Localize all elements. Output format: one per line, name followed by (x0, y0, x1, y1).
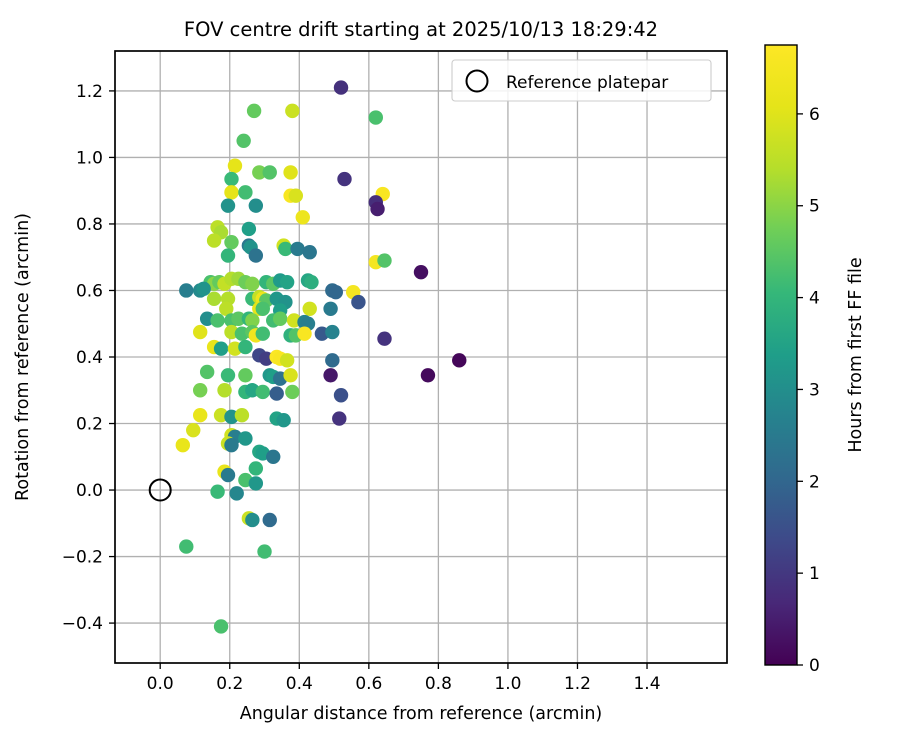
scatter-point (303, 302, 317, 316)
scatter-point (325, 325, 339, 339)
colorbar-tick-label: 4 (809, 289, 820, 309)
y-tick-label: 0.6 (76, 281, 103, 301)
scatter-point (238, 368, 252, 382)
scatter-point (214, 341, 228, 355)
scatter-point (193, 325, 207, 339)
colorbar-label: Hours from first FF file (846, 257, 866, 452)
scatter-point (303, 245, 317, 259)
scatter-point (245, 277, 259, 291)
scatter-point (224, 185, 238, 199)
scatter-point (210, 485, 224, 499)
scatter-point (217, 383, 231, 397)
colorbar-tick-label: 6 (809, 105, 820, 125)
scatter-point (176, 438, 190, 452)
scatter-point (323, 302, 337, 316)
scatter-point (221, 468, 235, 482)
scatter-point (377, 253, 391, 267)
scatter-point (332, 411, 346, 425)
scatter-point (289, 188, 303, 202)
scatter-point (266, 450, 280, 464)
y-tick-label: 0.0 (76, 481, 103, 501)
scatter-point (283, 368, 297, 382)
scatter-point (210, 313, 224, 327)
y-tick-label: −0.2 (62, 548, 103, 568)
x-tick-label: 0.8 (425, 674, 452, 694)
legend[interactable]: Reference platepar (452, 60, 711, 101)
scatter-point (334, 80, 348, 94)
x-tick-label: 1.4 (633, 674, 660, 694)
colorbar-gradient (765, 45, 797, 665)
x-tick-label: 1.0 (494, 674, 521, 694)
scatter-point (249, 198, 263, 212)
scatter-point (256, 385, 270, 399)
scatter-point (200, 365, 214, 379)
scatter-point (238, 340, 252, 354)
scatter-point (280, 275, 294, 289)
scatter-point (280, 353, 294, 367)
scatter-point (247, 104, 261, 118)
scatter-point (238, 185, 252, 199)
scatter-point (249, 248, 263, 262)
x-tick-label: 1.2 (564, 674, 591, 694)
matplotlib-figure: FOV centre drift starting at 2025/10/13 … (0, 0, 900, 750)
scatter-point (256, 327, 270, 341)
scatter-point (273, 312, 287, 326)
y-tick-label: 1.2 (76, 82, 103, 102)
colorbar-tick-label: 0 (809, 656, 820, 676)
scatter-point (193, 383, 207, 397)
scatter-point (242, 222, 256, 236)
scatter-point (207, 292, 221, 306)
legend-item-label: Reference platepar (506, 73, 668, 93)
scatter-point (334, 388, 348, 402)
scatter-point (325, 353, 339, 367)
x-axis-label: Angular distance from reference (arcmin) (240, 704, 603, 724)
scatter-point (257, 544, 271, 558)
x-tick-label: 0.4 (286, 674, 313, 694)
scatter-point (285, 385, 299, 399)
scatter-point (228, 159, 242, 173)
page-title: FOV centre drift starting at 2025/10/13 … (184, 18, 658, 41)
scatter-point (207, 233, 221, 247)
scatter-point (290, 242, 304, 256)
scatter-point (238, 431, 252, 445)
y-tick-label: 0.4 (76, 348, 103, 368)
scatter-point (269, 386, 283, 400)
scatter-point (329, 285, 343, 299)
scatter-point (245, 513, 259, 527)
scatter-point (452, 353, 466, 367)
colorbar-tick-label: 5 (809, 197, 820, 217)
scatter-point (193, 408, 207, 422)
y-tick-label: 1.0 (76, 148, 103, 168)
scatter-point (221, 368, 235, 382)
scatter-point (235, 408, 249, 422)
y-tick-label: 0.8 (76, 215, 103, 235)
y-tick-label: 0.2 (76, 415, 103, 435)
scatter-point (337, 172, 351, 186)
scatter-point (296, 210, 310, 224)
scatter-point (323, 368, 337, 382)
colorbar-tick-label: 2 (809, 472, 820, 492)
scatter-point (377, 332, 391, 346)
y-axis-label: Rotation from reference (arcmin) (13, 213, 33, 501)
scatter-point (249, 461, 263, 475)
scatter-point (179, 283, 193, 297)
scatter-point (224, 235, 238, 249)
colorbar-tick-label: 1 (809, 564, 820, 584)
scatter-point (224, 438, 238, 452)
scatter-point (263, 513, 277, 527)
y-tick-label: −0.4 (62, 614, 103, 634)
colorbar-tick-label: 3 (809, 380, 820, 400)
scatter-point (370, 202, 384, 216)
scatter-point (256, 302, 270, 316)
scatter-point (214, 619, 228, 633)
scatter-point (414, 265, 428, 279)
x-tick-label: 0.2 (216, 674, 243, 694)
scatter-point (179, 539, 193, 553)
scatter-point (263, 165, 277, 179)
scatter-point (221, 248, 235, 262)
scatter-point (297, 327, 311, 341)
scatter-point (351, 295, 365, 309)
scatter-point (369, 110, 383, 124)
x-tick-label: 0.0 (147, 674, 174, 694)
scatter-point (236, 134, 250, 148)
scatter-point (221, 198, 235, 212)
scatter-point (196, 282, 210, 296)
scatter-point (283, 165, 297, 179)
scatter-point (186, 423, 200, 437)
scatter-point (304, 275, 318, 289)
scatter-point (224, 172, 238, 186)
scatter-plot-canvas: FOV centre drift starting at 2025/10/13 … (0, 0, 900, 750)
scatter-point (285, 104, 299, 118)
x-tick-label: 0.6 (355, 674, 382, 694)
scatter-point (421, 368, 435, 382)
scatter-point (230, 486, 244, 500)
scatter-point (276, 413, 290, 427)
scatter-point (249, 476, 263, 490)
